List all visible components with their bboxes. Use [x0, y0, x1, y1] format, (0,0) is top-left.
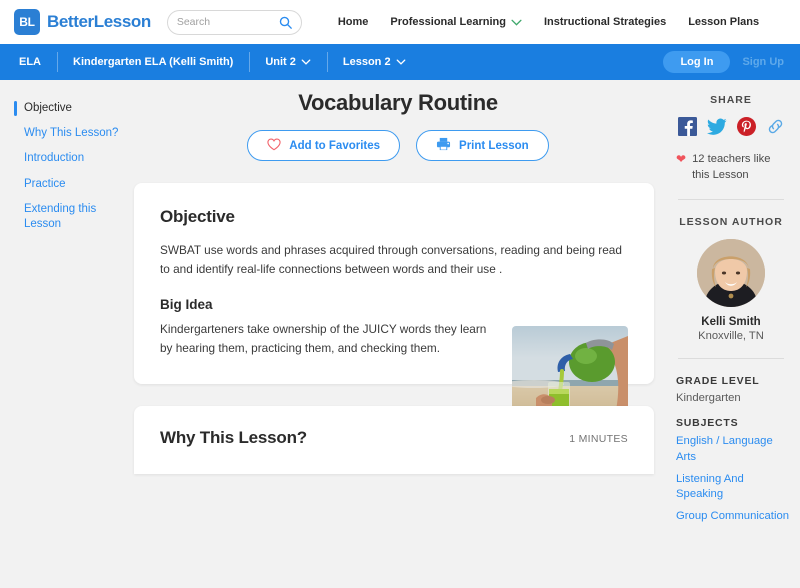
- toc-item-label: Why This Lesson?: [24, 127, 118, 139]
- add-to-favorites-button[interactable]: Add to Favorites: [247, 130, 400, 161]
- toc-item-label: Objective: [24, 102, 72, 114]
- page-title: Vocabulary Routine: [132, 90, 664, 116]
- likes-row: ❤ 12 teachers like this Lesson: [672, 152, 790, 183]
- nav-item-home[interactable]: Home: [338, 16, 369, 28]
- subject-link-group-communication[interactable]: Group Communication: [676, 509, 790, 524]
- toc-item-label: Extending this Lesson: [24, 203, 96, 230]
- nav-item-label: Instructional Strategies: [544, 16, 666, 28]
- logo-wordmark: BetterLesson: [47, 12, 151, 32]
- divider: [678, 358, 784, 359]
- breadcrumb-item-lesson[interactable]: Lesson 2: [327, 52, 422, 72]
- search-icon[interactable]: [279, 16, 292, 29]
- objective-body: SWBAT use words and phrases acquired thr…: [160, 241, 628, 279]
- author-name: Kelli Smith: [672, 316, 790, 328]
- lesson-meta-block: GRADE LEVEL Kindergarten SUBJECTS Englis…: [672, 375, 790, 524]
- nav-item-label: Lesson Plans: [688, 16, 759, 28]
- main-nav: Home Professional Learning Instructional…: [338, 16, 759, 28]
- why-this-lesson-heading: Why This Lesson?: [160, 428, 307, 448]
- breadcrumb: ELA Kindergarten ELA (Kelli Smith) Unit …: [0, 44, 800, 80]
- subjects-label: SUBJECTS: [676, 417, 790, 429]
- add-to-favorites-label: Add to Favorites: [289, 140, 380, 152]
- page-body: Objective Why This Lesson? Introduction …: [0, 80, 800, 588]
- logo-mark-icon: BL: [14, 9, 40, 35]
- facebook-icon[interactable]: [678, 117, 697, 136]
- toc-item-objective[interactable]: Objective: [14, 96, 132, 121]
- twitter-icon[interactable]: [707, 118, 727, 136]
- nav-item-lesson-plans[interactable]: Lesson Plans: [688, 16, 759, 28]
- breadcrumb-label: Kindergarten ELA (Kelli Smith): [73, 56, 233, 68]
- lesson-meta-sidebar: SHARE: [664, 80, 800, 588]
- objective-heading: Objective: [160, 207, 628, 227]
- breadcrumb-item-unit[interactable]: Unit 2: [249, 52, 327, 72]
- big-idea-heading: Big Idea: [160, 297, 628, 312]
- site-logo[interactable]: BL BetterLesson: [14, 9, 151, 35]
- lesson-actions: Add to Favorites Print Lesson: [132, 130, 664, 161]
- search-box[interactable]: [167, 10, 302, 35]
- subject-link-ela[interactable]: English / Language Arts: [676, 434, 790, 465]
- print-lesson-button[interactable]: Print Lesson: [416, 130, 549, 161]
- divider: [678, 199, 784, 200]
- breadcrumb-label: Lesson 2: [343, 56, 391, 68]
- why-card-header: Why This Lesson? 1 MINUTES: [160, 428, 628, 448]
- toc-item-practice[interactable]: Practice: [14, 172, 132, 197]
- grade-level-value: Kindergarten: [676, 392, 790, 404]
- nav-item-label: Home: [338, 16, 369, 28]
- toc-item-why-this-lesson[interactable]: Why This Lesson?: [14, 121, 132, 146]
- subject-link-listening-speaking[interactable]: Listening And Speaking: [676, 472, 790, 503]
- share-icons: [672, 117, 790, 136]
- top-header: BL BetterLesson Home Professional Learni…: [0, 0, 800, 44]
- login-button[interactable]: Log In: [663, 51, 730, 73]
- chevron-down-icon: [511, 19, 522, 26]
- breadcrumb-item-course[interactable]: Kindergarten ELA (Kelli Smith): [57, 52, 249, 72]
- breadcrumb-label: ELA: [19, 56, 41, 68]
- author-location: Knoxville, TN: [672, 330, 790, 342]
- nav-item-professional-learning[interactable]: Professional Learning: [390, 16, 522, 28]
- breadcrumb-item-ela[interactable]: ELA: [14, 52, 57, 72]
- avatar: [697, 239, 765, 307]
- print-lesson-label: Print Lesson: [459, 140, 529, 152]
- breadcrumb-label: Unit 2: [265, 56, 296, 68]
- nav-item-label: Professional Learning: [390, 16, 506, 28]
- toc-item-extending-this-lesson[interactable]: Extending this Lesson: [14, 197, 132, 237]
- pinterest-icon[interactable]: [737, 117, 756, 136]
- share-label: SHARE: [672, 94, 790, 106]
- heart-outline-icon: [267, 138, 281, 154]
- duration-badge: 1 MINUTES: [569, 428, 628, 445]
- toc-item-label: Practice: [24, 178, 66, 190]
- grade-level-label: GRADE LEVEL: [676, 375, 790, 387]
- nav-item-instructional-strategies[interactable]: Instructional Strategies: [544, 16, 666, 28]
- objective-card: Objective SWBAT use words and phrases ac…: [134, 183, 654, 384]
- toc-item-label: Introduction: [24, 152, 84, 164]
- signup-button[interactable]: Sign Up: [738, 51, 788, 73]
- lesson-toc-sidebar: Objective Why This Lesson? Introduction …: [0, 80, 132, 588]
- heart-filled-icon: ❤: [676, 152, 686, 168]
- printer-icon: [436, 137, 451, 154]
- lesson-main: Vocabulary Routine Add to Favorites: [132, 80, 664, 588]
- chevron-down-icon: [301, 56, 311, 68]
- link-icon[interactable]: [766, 117, 785, 136]
- toc-item-introduction[interactable]: Introduction: [14, 146, 132, 171]
- chevron-down-icon: [396, 56, 406, 68]
- search-input[interactable]: [177, 16, 279, 28]
- likes-text: 12 teachers like this Lesson: [692, 152, 788, 183]
- auth-actions: Log In Sign Up: [663, 51, 788, 73]
- why-this-lesson-card: Why This Lesson? 1 MINUTES: [134, 406, 654, 474]
- lesson-author-label: LESSON AUTHOR: [672, 216, 790, 228]
